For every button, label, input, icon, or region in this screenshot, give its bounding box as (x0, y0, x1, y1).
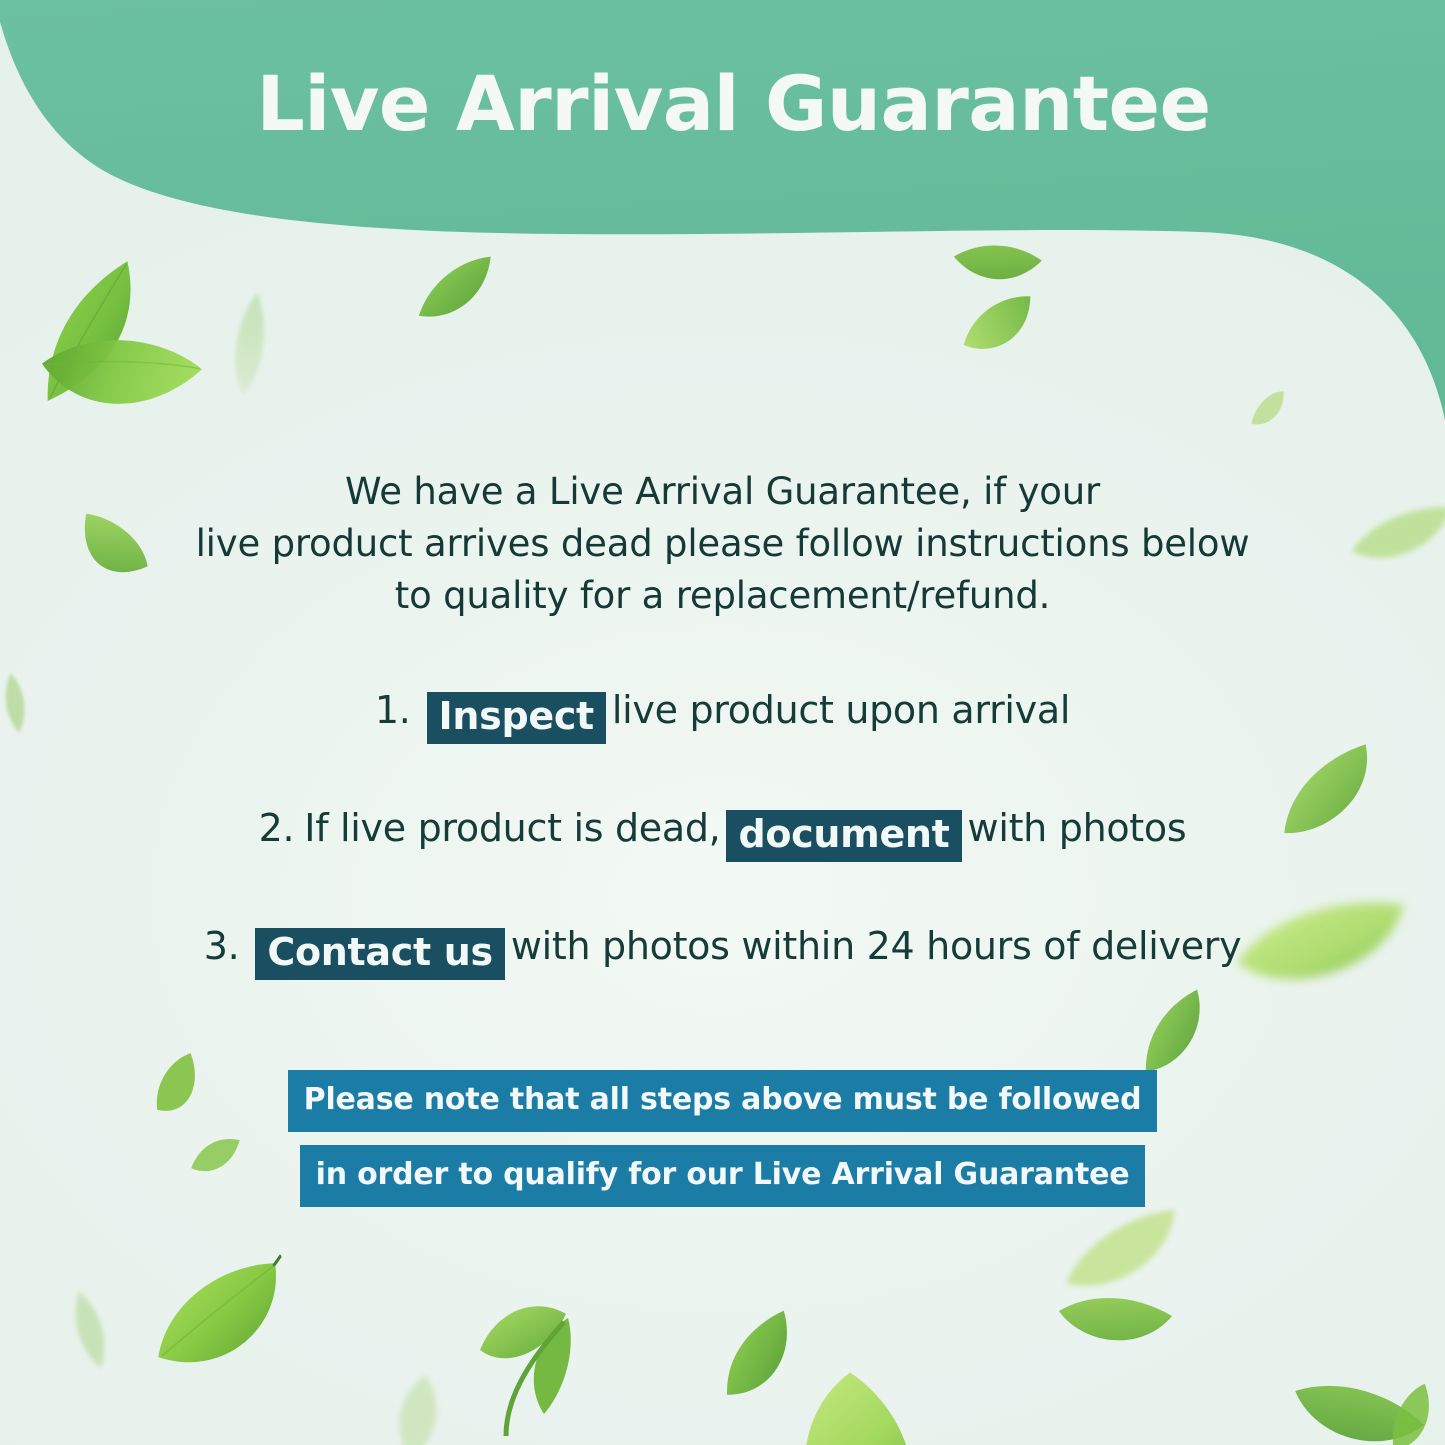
intro-line-1: We have a Live Arrival Guarantee, if you… (0, 466, 1445, 518)
leaf-icon (951, 286, 1050, 369)
leaf-icon (1048, 1273, 1176, 1373)
step-text-after: with photos (968, 806, 1187, 850)
leaf-icon (223, 288, 278, 401)
steps-list: 1.Inspectlive product upon arrival 2.If … (0, 686, 1445, 974)
step-highlight-inspect: Inspect (427, 692, 606, 744)
step-text-after: with photos within 24 hours of delivery (511, 924, 1241, 968)
step-item-1: 1.Inspectlive product upon arrival (0, 686, 1445, 738)
live-arrival-guarantee-poster: Live Arrival Guarantee We have a Live Ar… (0, 0, 1445, 1445)
note-block: Please note that all steps above must be… (0, 1070, 1445, 1207)
leaf-icon (1241, 385, 1298, 435)
note-line-2: in order to qualify for our Live Arrival… (300, 1145, 1146, 1207)
poster-content: We have a Live Arrival Guarantee, if you… (0, 0, 1445, 1445)
leaf-icon (1277, 1348, 1430, 1445)
step-highlight-document: document (726, 810, 961, 862)
step-text-before: If live product is dead, (304, 806, 720, 850)
leaf-icon (1, 251, 185, 419)
note-divider (0, 1132, 1445, 1145)
step-item-2: 2.If live product is dead,documentwith p… (0, 804, 1445, 856)
step-highlight-contact-us: Contact us (255, 928, 504, 980)
step-number: 2. (259, 806, 295, 850)
intro-paragraph: We have a Live Arrival Guarantee, if you… (0, 466, 1445, 622)
leaf-icon (406, 252, 505, 330)
leaf-icon (383, 1368, 454, 1445)
step-item-3: 3.Contact uswith photos within 24 hours … (0, 922, 1445, 974)
leaf-icon (784, 1365, 936, 1445)
intro-line-3: to quality for a replacement/refund. (0, 570, 1445, 622)
intro-line-2: live product arrives dead please follow … (0, 518, 1445, 570)
leaf-icon (702, 1306, 820, 1416)
leaf-icon (136, 1253, 309, 1396)
leaf-icon (1370, 1379, 1445, 1445)
leaf-icon (945, 223, 1046, 307)
step-number: 1. (375, 688, 411, 732)
leaf-icon (26, 308, 210, 456)
step-text-after: live product upon arrival (612, 688, 1070, 732)
leaf-icon (472, 1292, 602, 1442)
page-title: Live Arrival Guarantee (0, 66, 1445, 142)
step-number: 3. (204, 924, 240, 968)
leaf-icon (61, 1285, 119, 1376)
note-line-1: Please note that all steps above must be… (288, 1070, 1158, 1132)
leaf-icon (1051, 1204, 1195, 1307)
